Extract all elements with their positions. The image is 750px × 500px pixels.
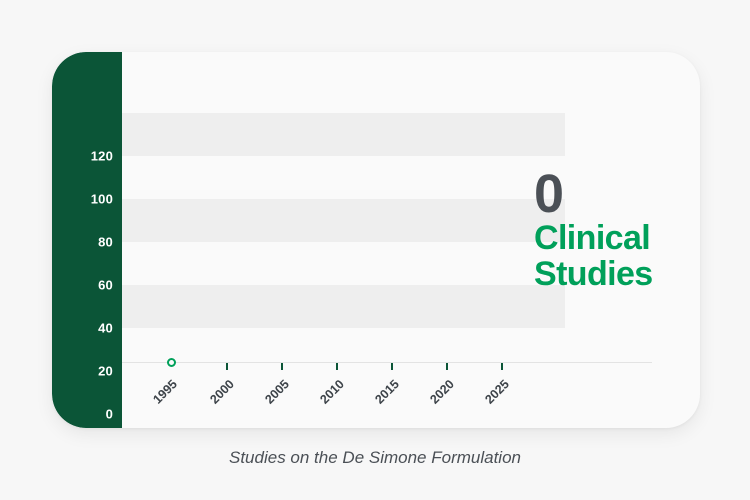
x-axis-tick-label: 2000	[170, 377, 236, 428]
x-axis-tick	[336, 363, 338, 370]
y-axis-tick-label: 120	[91, 150, 113, 163]
x-axis-tick	[226, 363, 228, 370]
plot-band	[122, 113, 565, 156]
y-axis-tick-label: 100	[91, 193, 113, 206]
plot-band	[122, 285, 565, 328]
x-axis-tick	[281, 363, 283, 370]
x-axis-tick	[501, 363, 503, 370]
x-axis-tick-label: 1995	[113, 377, 179, 428]
chart-card: 120 100 80 60 40 20 0 1995 2000 2005 201…	[52, 52, 700, 428]
callout-value: 0	[534, 170, 694, 220]
x-axis-tick	[446, 363, 448, 370]
data-point-marker[interactable]	[167, 358, 176, 367]
x-axis-baseline	[122, 362, 652, 363]
y-axis-tick-label: 60	[98, 279, 113, 292]
y-axis-tick-label: 20	[98, 365, 113, 378]
y-axis-rail: 120 100 80 60 40 20 0	[52, 52, 122, 428]
callout-label-line1: Clinical	[534, 220, 694, 256]
plot-band	[122, 199, 565, 242]
y-axis-tick-label: 80	[98, 236, 113, 249]
y-axis-tick-label: 40	[98, 322, 113, 335]
y-axis-tick-label: 0	[106, 408, 113, 421]
figure-caption: Studies on the De Simone Formulation	[0, 448, 750, 468]
callout-label-line2: Studies	[534, 256, 694, 292]
callout-block: 0 Clinical Studies	[534, 170, 694, 292]
x-axis-tick	[391, 363, 393, 370]
